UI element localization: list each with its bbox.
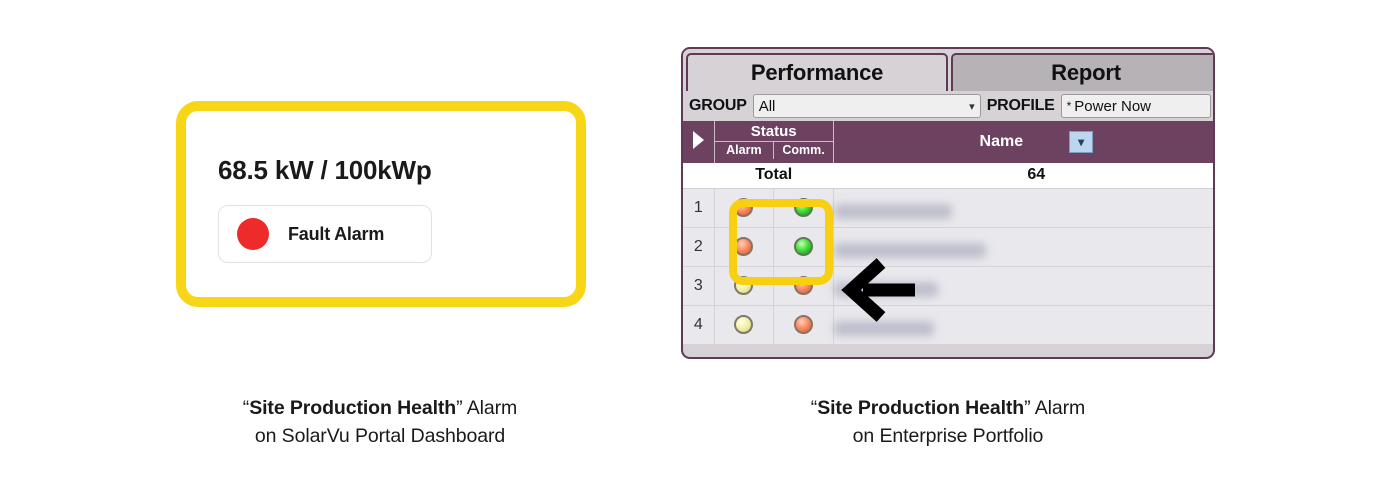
name-sort-dropdown-icon[interactable]: ▾	[1069, 131, 1093, 153]
row-number: 3	[683, 266, 714, 305]
profile-select[interactable]: * Power Now	[1061, 94, 1211, 118]
table-row[interactable]: 1	[683, 188, 1215, 227]
total-row: Total 64	[683, 163, 1215, 188]
portfolio-panel: Performance Report GROUP All ▾ PROFILE *…	[681, 47, 1215, 359]
row-status-cell[interactable]	[714, 266, 833, 305]
row-number: 4	[683, 305, 714, 344]
row-number: 1	[683, 188, 714, 227]
figure-canvas: 68.5 kW / 100kWp Fault Alarm Performance…	[0, 0, 1400, 494]
comm-led-icon	[794, 198, 813, 217]
pointer-arrow-icon	[841, 257, 917, 328]
total-count: 64	[833, 163, 1215, 188]
caption-right: “Site Production Health” Alarm on Enterp…	[688, 394, 1208, 451]
power-reading: 68.5 kW / 100kWp	[218, 155, 432, 186]
total-label: Total	[714, 163, 833, 188]
row-site-name[interactable]	[833, 188, 1215, 227]
name-column-header: Name ▾	[833, 121, 1215, 163]
redacted-site-name	[834, 204, 952, 219]
table-row[interactable]: 2	[683, 227, 1215, 266]
tab-bar: Performance Report	[683, 49, 1215, 91]
fault-alarm-label: Fault Alarm	[288, 224, 384, 245]
comm-led-icon	[794, 276, 813, 295]
table-header-row: Status Alarm Comm. Name ▾	[683, 121, 1215, 163]
group-select-value: All	[759, 98, 776, 115]
site-status-table: Status Alarm Comm. Name ▾	[683, 121, 1215, 345]
highlight-card: 68.5 kW / 100kWp Fault Alarm	[176, 101, 586, 307]
tab-performance[interactable]: Performance	[686, 53, 948, 91]
caption-right-line2: on Enterprise Portfolio	[688, 422, 1208, 450]
tab-report[interactable]: Report	[951, 53, 1215, 91]
alarm-status-dot-icon	[237, 218, 269, 250]
row-status-cell[interactable]	[714, 188, 833, 227]
row-status-cell[interactable]	[714, 305, 833, 344]
chevron-down-icon: ▾	[969, 100, 975, 113]
triangle-right-icon	[693, 131, 704, 149]
alarm-led-icon	[734, 276, 753, 295]
caption-right-suffix: Alarm	[1031, 397, 1086, 419]
profile-select-value: Power Now	[1074, 98, 1151, 115]
alarm-led-icon	[734, 198, 753, 217]
alarm-subheader: Alarm	[715, 142, 775, 159]
comm-subheader: Comm.	[774, 142, 833, 159]
profile-label: PROFILE	[987, 97, 1055, 115]
caption-left-suffix: Alarm	[463, 397, 518, 419]
redacted-site-name	[834, 243, 986, 258]
caption-left: “Site Production Health” Alarm on SolarV…	[120, 394, 640, 451]
fault-alarm-badge[interactable]: Fault Alarm	[218, 205, 432, 263]
caption-left-quoted: Site Production Health	[249, 397, 456, 419]
profile-star-icon: *	[1067, 99, 1072, 113]
caption-left-line2: on SolarVu Portal Dashboard	[120, 422, 640, 450]
alarm-led-icon	[734, 237, 753, 256]
group-label: GROUP	[689, 97, 747, 115]
solarvu-dashboard-figure: 68.5 kW / 100kWp Fault Alarm	[176, 101, 586, 307]
caption-right-quoted: Site Production Health	[817, 397, 1024, 419]
status-column-header: Status Alarm Comm.	[714, 121, 833, 163]
row-number: 2	[683, 227, 714, 266]
group-select[interactable]: All ▾	[753, 94, 981, 118]
expand-column-header[interactable]	[683, 121, 714, 163]
table-row[interactable]: 3	[683, 266, 1215, 305]
enterprise-portfolio-figure: Performance Report GROUP All ▾ PROFILE *…	[681, 47, 1215, 359]
comm-led-icon	[794, 315, 813, 334]
row-status-cell[interactable]	[714, 227, 833, 266]
alarm-led-icon	[734, 315, 753, 334]
name-header-label: Name	[980, 133, 1024, 151]
table-row[interactable]: 4	[683, 305, 1215, 344]
status-header-label: Status	[715, 121, 833, 141]
comm-led-icon	[794, 237, 813, 256]
filter-bar: GROUP All ▾ PROFILE * Power Now	[683, 91, 1215, 121]
